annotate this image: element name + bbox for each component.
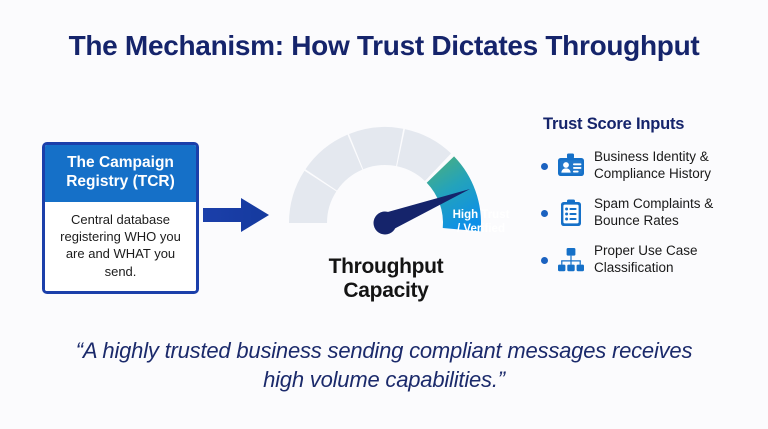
- trust-score-inputs-panel: Trust Score Inputs Business Identity & C…: [541, 115, 761, 290]
- inputs-heading: Trust Score Inputs: [543, 115, 761, 134]
- sitemap-icon: [556, 245, 586, 275]
- bullet-dot-icon: [541, 163, 548, 170]
- slide-canvas: The Mechanism: How Trust Dictates Throug…: [0, 0, 768, 429]
- id-card-icon: [556, 151, 586, 181]
- bullet-dot-icon: [541, 210, 548, 217]
- list-item: Proper Use Case Classification: [541, 243, 761, 277]
- right-arrow-icon: [203, 198, 269, 232]
- tcr-callout-card: The Campaign Registry (TCR) Central data…: [42, 142, 199, 294]
- bullet-dot-icon: [541, 257, 548, 264]
- page-title: The Mechanism: How Trust Dictates Throug…: [0, 30, 768, 62]
- list-item-label: Business Identity & Compliance History: [594, 149, 761, 183]
- tcr-card-title: The Campaign Registry (TCR): [45, 145, 196, 202]
- list-item-label: Spam Complaints & Bounce Rates: [594, 196, 761, 230]
- list-item: Business Identity & Compliance History: [541, 149, 761, 183]
- tcr-card-description: Central database registering WHO you are…: [45, 202, 196, 291]
- gauge-segment-label: High Trust / Verified: [452, 208, 510, 237]
- list-item: Spam Complaints & Bounce Rates: [541, 196, 761, 230]
- gauge-title: Throughput Capacity: [300, 255, 472, 302]
- pull-quote: “A highly trusted business sending compl…: [60, 336, 708, 395]
- list-item-label: Proper Use Case Classification: [594, 243, 761, 277]
- clipboard-list-icon: [556, 198, 586, 228]
